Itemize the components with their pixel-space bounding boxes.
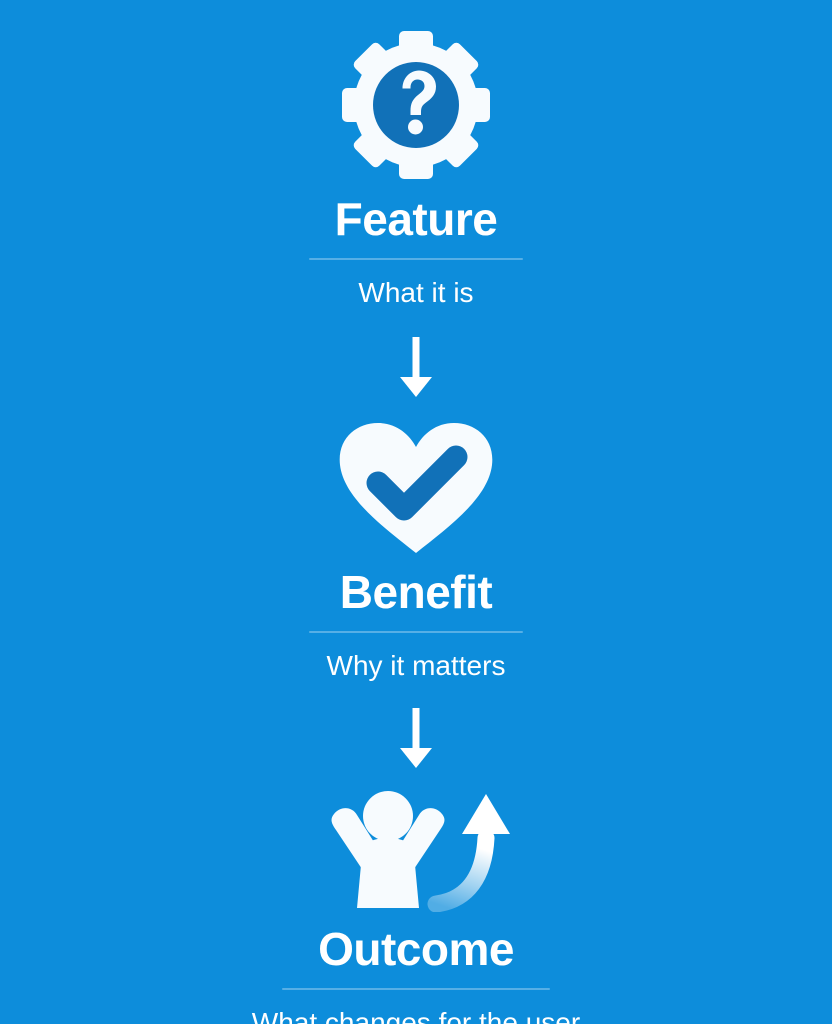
stage-title-outcome: Outcome (318, 926, 514, 972)
arrow-down-icon (394, 337, 438, 399)
heart-check-icon (336, 421, 496, 557)
stage-caption-outcome: What changes for the user (252, 1008, 580, 1024)
gear-question-icon (336, 30, 496, 180)
stage-divider-benefit (309, 631, 523, 633)
stage-title-benefit: Benefit (340, 569, 492, 615)
stage-divider-feature (309, 258, 523, 260)
stage-caption-feature: What it is (358, 278, 473, 309)
stage-outcome: Outcome What changes for the user (0, 788, 832, 1024)
stage-benefit: Benefit Why it matters (0, 421, 832, 682)
stage-feature: Feature What it is (0, 30, 832, 309)
stage-caption-benefit: Why it matters (327, 651, 506, 682)
stage-title-feature: Feature (335, 196, 498, 242)
flow-diagram: Feature What it is Benefit Why it matter… (0, 0, 832, 1024)
arrow-down-icon (394, 708, 438, 770)
stage-divider-outcome (282, 988, 550, 990)
person-celebrating-arrow-icon (318, 788, 514, 912)
